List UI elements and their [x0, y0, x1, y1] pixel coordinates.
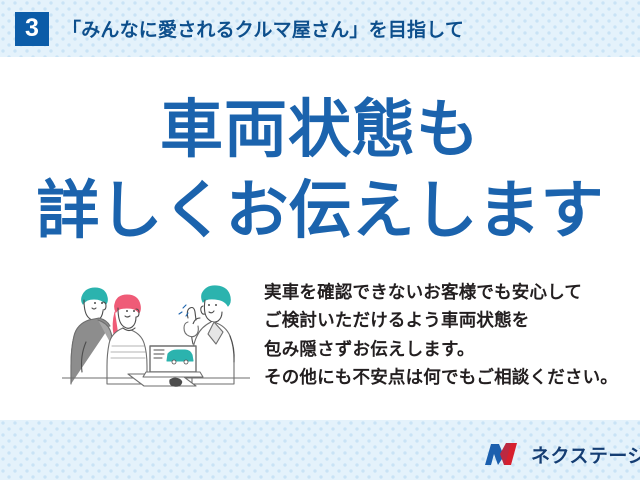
nextage-wordmark: ネクステージ	[531, 441, 640, 468]
headline-line-1: 車両状態も	[0, 90, 640, 171]
headline-line-2: 詳しくお伝えします	[0, 171, 640, 252]
nextage-n-icon	[484, 441, 524, 467]
content-card: 車両状態も 詳しくお伝えします	[0, 57, 640, 420]
body-line-3: 包み隠さずお伝えします。	[264, 335, 624, 363]
headline: 車両状態も 詳しくお伝えします	[0, 90, 640, 251]
section-number-badge: 3	[15, 12, 49, 46]
header-title: 「みんなに愛されるクルマ屋さん」を目指して	[62, 15, 464, 42]
body-line-4: その他にも不安点は何でもご相談ください。	[264, 363, 624, 391]
header-bar: 3 「みんなに愛されるクルマ屋さん」を目指して	[0, 0, 640, 57]
body-line-2: ご検討いただけるよう車両状態を	[264, 306, 624, 334]
lower-section: 実車を確認できないお客様でも安心して ご検討いただけるよう車両状態を 包み隠さず…	[0, 270, 640, 420]
consultation-illustration	[62, 270, 250, 390]
nextage-logo: ネクステージ	[484, 440, 640, 468]
body-paragraph: 実車を確認できないお客様でも安心して ご検討いただけるよう車両状態を 包み隠さず…	[264, 278, 624, 391]
body-line-1: 実車を確認できないお客様でも安心して	[264, 278, 624, 306]
